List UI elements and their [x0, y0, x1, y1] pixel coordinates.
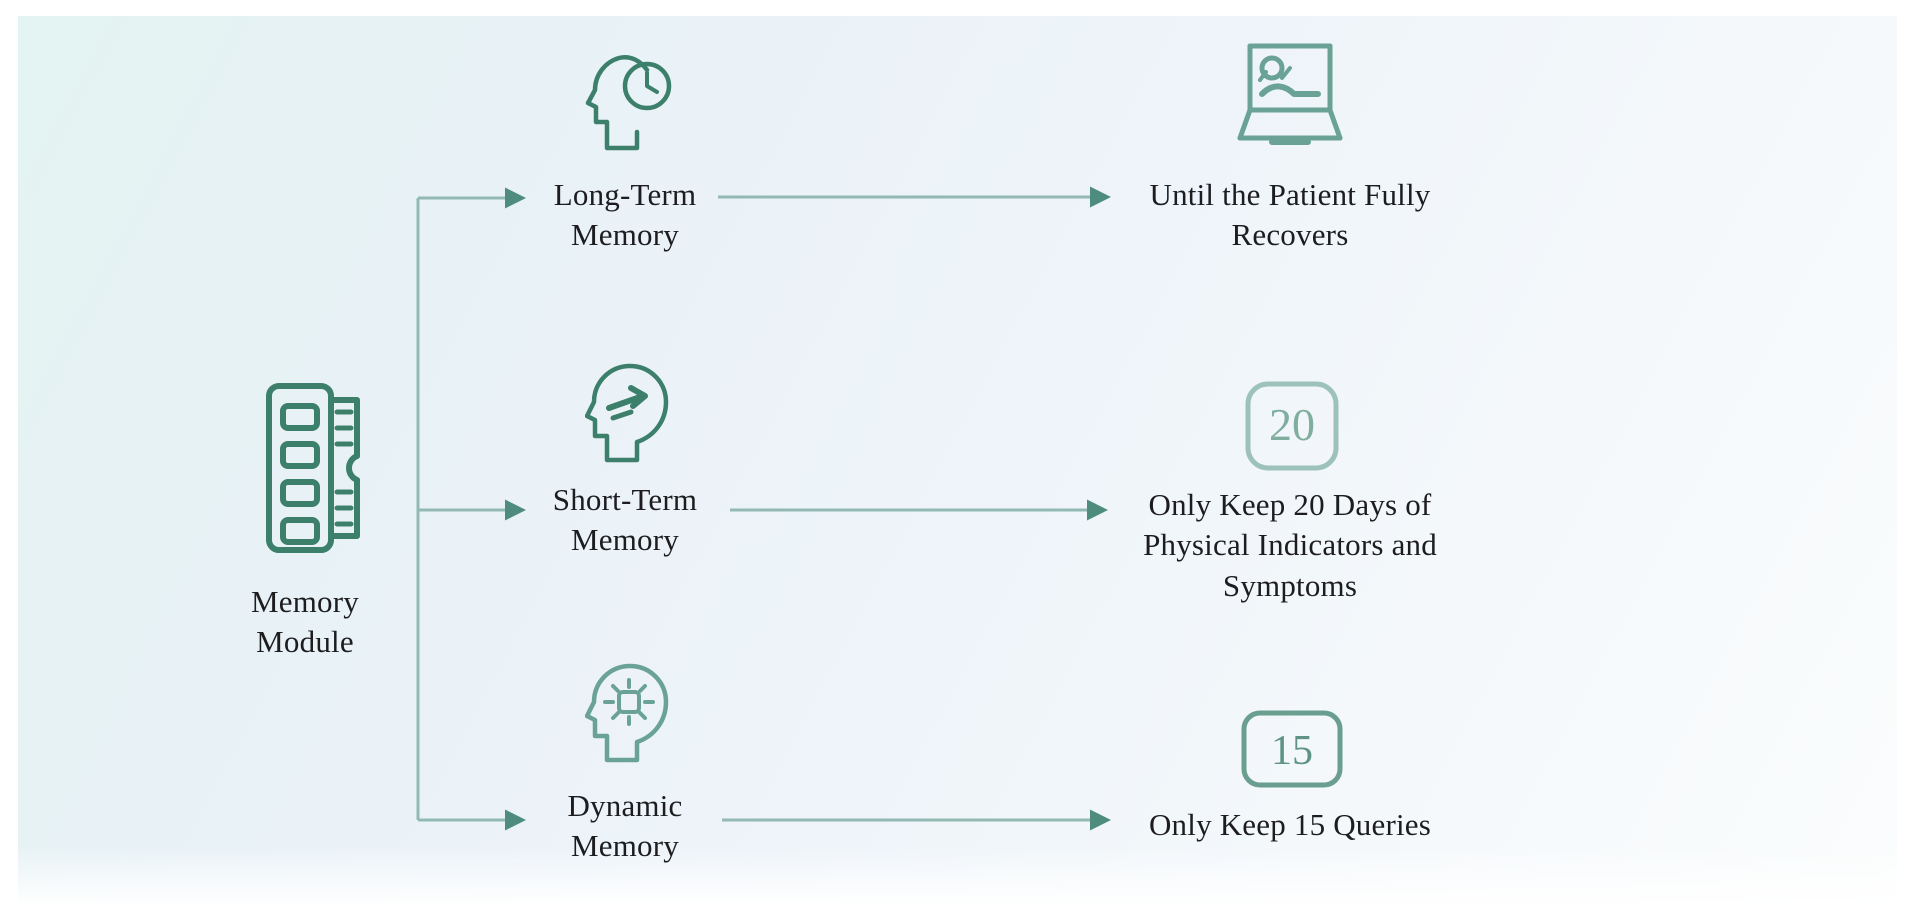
branch-label-short-term-line2: Memory	[500, 520, 750, 560]
number-badge-20-icon: 20	[1242, 378, 1342, 474]
badge-15-value: 15	[1271, 728, 1313, 774]
outcome-dynamic-line1: Only Keep 15 Queries	[1090, 805, 1490, 845]
outcome-long-term: Until the Patient Fully Recovers	[1090, 175, 1490, 256]
branch-label-dynamic-line2: Memory	[500, 826, 750, 866]
branch-label-dynamic: Dynamic Memory	[500, 786, 750, 867]
outcome-long-term-line1: Until the Patient Fully	[1090, 175, 1490, 215]
memory-module-label: Memory Module	[190, 582, 420, 663]
outcome-short-term: Only Keep 20 Days of Physical Indicators…	[1085, 485, 1495, 606]
outcome-short-term-line1: Only Keep 20 Days of	[1085, 485, 1495, 525]
branch-label-long-term-line2: Memory	[500, 215, 750, 255]
outcome-dynamic: Only Keep 15 Queries	[1090, 805, 1490, 845]
memory-module-label-line1: Memory	[190, 582, 420, 622]
head-gear-icon	[585, 660, 675, 768]
branch-label-short-term-line1: Short-Term	[500, 480, 750, 520]
ram-memory-stick-icon	[255, 378, 375, 558]
head-clock-icon	[585, 48, 675, 156]
head-arrow-icon	[585, 360, 675, 468]
branch-label-dynamic-line1: Dynamic	[500, 786, 750, 826]
memory-module-label-line2: Module	[190, 622, 420, 662]
outcome-long-term-line2: Recovers	[1090, 215, 1490, 255]
badge-20-value: 20	[1269, 399, 1315, 450]
number-badge-15-icon: 15	[1238, 708, 1346, 790]
diagram-canvas: Memory Module Long-Term Memory	[0, 0, 1915, 922]
outcome-short-term-line2: Physical Indicators and	[1085, 525, 1495, 565]
patient-in-bed-icon	[1232, 38, 1348, 156]
branch-label-long-term: Long-Term Memory	[500, 175, 750, 256]
branch-label-long-term-line1: Long-Term	[500, 175, 750, 215]
branch-label-short-term: Short-Term Memory	[500, 480, 750, 561]
outcome-short-term-line3: Symptoms	[1085, 566, 1495, 606]
